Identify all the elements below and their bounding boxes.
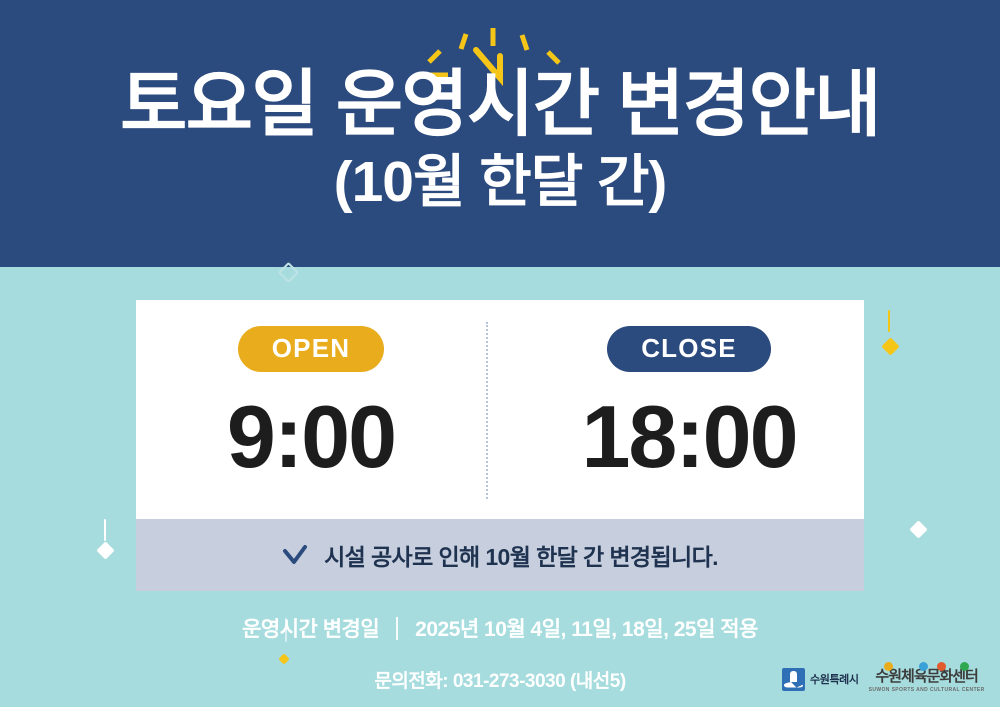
card-divider	[486, 322, 488, 499]
decor-tick-left-bottom	[104, 519, 106, 541]
notice-text: 시설 공사로 인해 10월 한달 간 변경됩니다.	[324, 538, 718, 572]
footer-change-date-row: 운영시간 변경일 2025년 10월 4일, 11일, 18일, 25일 적용	[0, 613, 1000, 643]
sports-center-logo-kr: 수원체육문화센터	[875, 665, 977, 686]
decor-diamond-white-right	[909, 520, 927, 538]
decor-diamond-yellow-right	[881, 337, 899, 355]
hours-card: OPEN 9:00 CLOSE 18:00	[136, 300, 864, 519]
footer-change-date-value: 2025년 10월 4일, 11일, 18일, 25일 적용	[415, 613, 758, 643]
check-icon	[282, 544, 308, 566]
open-column: OPEN 9:00	[136, 300, 486, 519]
decor-tick-right-top	[888, 310, 890, 332]
sports-center-logo-en: SUWON SPORTS AND CULTURAL CENTER	[869, 687, 985, 693]
close-time: 18:00	[514, 389, 864, 485]
sports-center-logo-kr-text: 수원체육문화센터	[875, 668, 977, 685]
poster-root: 토요일 운영시간 변경안내 (10월 한달 간) OPEN 9:00 CLOSE…	[0, 0, 1000, 707]
footer-change-date-label: 운영시간 변경일	[242, 613, 379, 643]
open-time: 9:00	[136, 389, 486, 485]
notice-strip: 시설 공사로 인해 10월 한달 간 변경됩니다.	[136, 519, 864, 591]
open-badge: OPEN	[238, 326, 384, 372]
page-title: 토요일 운영시간 변경안내	[0, 62, 1000, 148]
page-subtitle: (10월 한달 간)	[0, 148, 1000, 216]
decor-diamond-white-left	[96, 541, 114, 559]
title-block: 토요일 운영시간 변경안내 (10월 한달 간)	[0, 62, 1000, 216]
decor-diamond-yellow-footer	[278, 653, 289, 664]
suwon-city-logo-text: 수원특례시	[810, 671, 859, 687]
sports-center-logo: 수원체육문화센터 SUWON SPORTS AND CULTURAL CENTE…	[869, 665, 985, 693]
close-badge: CLOSE	[607, 326, 771, 372]
suwon-city-emblem-icon	[782, 668, 805, 691]
footer-phone: 문의전화: 031-273-3030 (내선5)	[374, 671, 625, 692]
suwon-city-logo: 수원특례시	[782, 668, 859, 691]
header-banner: 토요일 운영시간 변경안내 (10월 한달 간)	[0, 0, 1000, 267]
logo-group: 수원특례시 수원체육문화센터 SUWON SPORTS AND CULTURAL…	[782, 661, 994, 697]
footer-separator	[396, 617, 398, 640]
close-column: CLOSE 18:00	[514, 300, 864, 519]
